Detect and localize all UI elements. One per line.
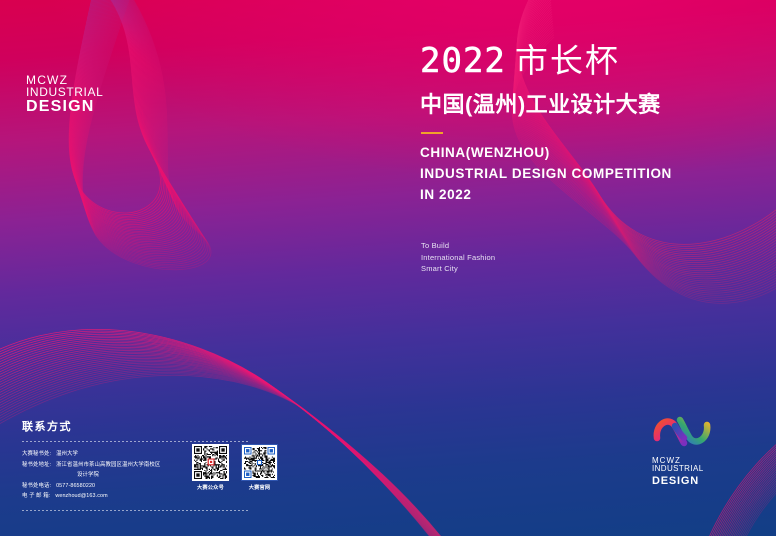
contact-row-key: 秘书处地址: xyxy=(22,460,51,471)
infinity-ribbon-icon xyxy=(652,412,712,450)
qr-website-image xyxy=(244,447,275,478)
logo-bottom-right-line2: INDUSTRIAL xyxy=(652,465,712,473)
qr-wechat-label: 大赛公众号 xyxy=(192,484,229,491)
title-cup: 市长杯 xyxy=(515,44,620,77)
contact-row-value: 温州大学 xyxy=(56,449,78,460)
title-english-line2: INDUSTRIAL DESIGN COMPETITION xyxy=(420,164,672,185)
contact-row-key: 秘书处电话: xyxy=(22,481,51,492)
contact-row-value: 设计学院 xyxy=(77,470,99,481)
qr-website-item: 大赛官网 xyxy=(241,444,278,491)
logo-top-left: MCWZ INDUSTRIAL DESIGN xyxy=(26,74,103,116)
title-english-line1: CHINA(WENZHOU) xyxy=(420,143,672,164)
logo-bottom-right: MCWZ INDUSTRIAL DESIGN xyxy=(652,412,712,487)
qr-code-group: 大赛公众号大赛官网 xyxy=(192,444,278,491)
title-year: 2022 xyxy=(420,44,506,78)
qr-wechat[interactable] xyxy=(192,444,229,481)
logo-top-left-line3: DESIGN xyxy=(26,99,103,115)
qr-wechat-image xyxy=(194,446,227,479)
title-english-line3: IN 2022 xyxy=(420,185,672,206)
title-primary-row: 2022 市长杯 xyxy=(420,44,672,78)
contact-row-key: 大赛秘书处: xyxy=(22,449,51,460)
slogan-block: To Build International Fashion Smart Cit… xyxy=(421,240,495,275)
title-block: 2022 市长杯 中国(温州)工业设计大赛 CHINA(WENZHOU) IND… xyxy=(420,44,672,206)
contact-row-key: 电 子 邮 箱: xyxy=(22,491,50,502)
contact-heading: 联系方式 xyxy=(22,418,272,434)
contact-row-value: wenzhoud@163.com xyxy=(55,491,107,502)
contact-row: 电 子 邮 箱:wenzhoud@163.com xyxy=(22,491,272,502)
qr-wechat-item: 大赛公众号 xyxy=(192,444,229,491)
qr-website-label: 大赛官网 xyxy=(241,484,278,491)
slogan-line2: International Fashion xyxy=(421,252,495,264)
logo-top-left-line2: INDUSTRIAL xyxy=(26,86,103,98)
poster-canvas: MCWZ INDUSTRIAL DESIGN 2022 市长杯 中国(温州)工业… xyxy=(0,0,776,536)
slogan-line3: Smart City xyxy=(421,263,495,275)
title-chinese: 中国(温州)工业设计大赛 xyxy=(420,87,672,119)
title-accent-rule xyxy=(421,132,443,134)
contact-divider-bottom xyxy=(22,510,250,511)
contact-row-value: 0577-86580220 xyxy=(56,481,95,492)
title-english: CHINA(WENZHOU) INDUSTRIAL DESIGN COMPETI… xyxy=(420,143,672,206)
qr-website[interactable] xyxy=(241,444,278,481)
contact-row-value: 浙江省温州市茶山高教园区温州大学南校区 xyxy=(56,460,160,471)
slogan-line1: To Build xyxy=(421,240,495,252)
contact-divider-top xyxy=(22,441,250,442)
logo-bottom-right-line3: DESIGN xyxy=(652,475,712,487)
